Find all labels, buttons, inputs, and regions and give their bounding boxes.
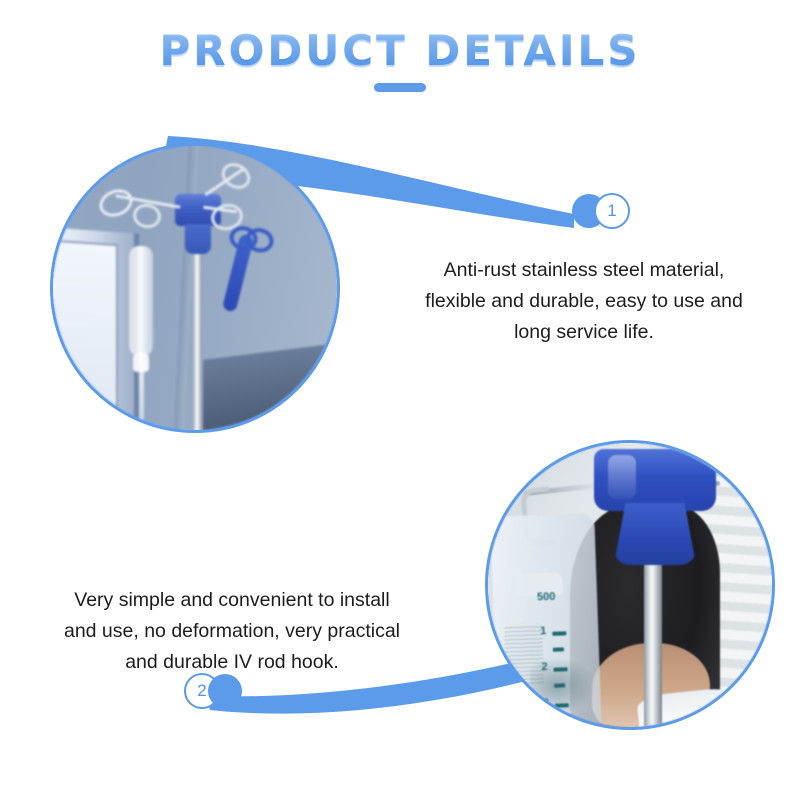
- section-2-photo: 500 1 2 3: [485, 440, 775, 730]
- description-line: and use, no deformation, very practical: [36, 616, 428, 647]
- iv-bag-graduation-500: 500: [537, 591, 556, 604]
- iv-bag-graduation-1: 1: [540, 625, 547, 637]
- iv-bag-tick-1b: [553, 647, 564, 651]
- iv-fluid-bag: 500 1 2 3: [490, 513, 602, 727]
- section-1-description: Anti-rust stainless steel material, flex…: [388, 255, 780, 348]
- description-line: Anti-rust stainless steel material,: [388, 255, 780, 286]
- iv-pole-hook-with-wire-hooks-photo: [53, 146, 337, 430]
- iv-pole-rod: [644, 561, 662, 727]
- section-1-number-badge: 1: [572, 193, 630, 229]
- section-1-photo: [50, 143, 340, 433]
- product-details-page: PRODUCT DETAILS: [0, 0, 800, 800]
- badge-dot: [208, 674, 242, 708]
- description-line: flexible and durable, easy to use and: [388, 286, 780, 317]
- description-line: Very simple and convenient to install: [36, 585, 428, 616]
- iv-pole-rod: [193, 250, 202, 430]
- title-block: PRODUCT DETAILS: [0, 30, 800, 92]
- iv-tube: [139, 352, 144, 430]
- wall-panel: [53, 226, 139, 430]
- iv-bag-tick-1: [552, 631, 566, 635]
- iv-bag-shadow: [529, 655, 597, 715]
- title-underline: [374, 83, 426, 92]
- section-2-description: Very simple and convenient to install an…: [36, 585, 428, 678]
- badge-number: 1: [594, 193, 630, 229]
- description-line: long service life.: [388, 317, 780, 348]
- iv-bag-on-hook-photo: 500 1 2 3: [488, 443, 772, 727]
- iv-bag-tick-3b: [555, 719, 566, 723]
- iv-drip-chamber: [129, 246, 153, 356]
- section-2-number-badge: 2: [184, 673, 242, 709]
- hook-highlight: [608, 455, 636, 499]
- blue-hook-collar: [614, 503, 696, 565]
- page-title: PRODUCT DETAILS: [0, 30, 800, 72]
